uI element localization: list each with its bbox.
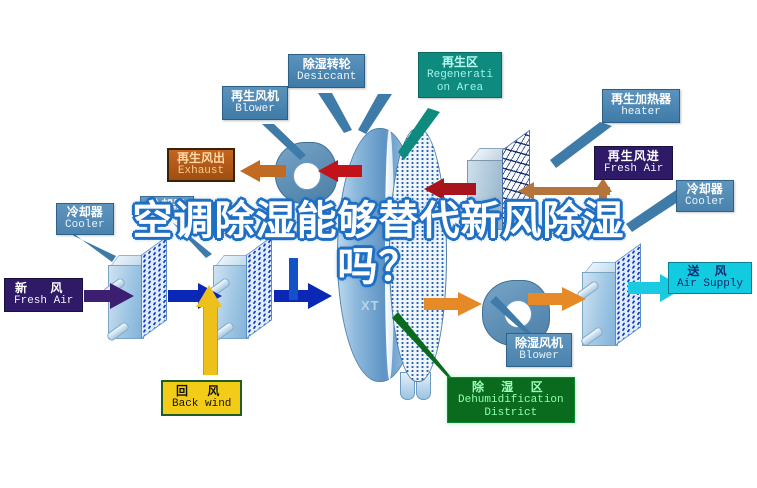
label-cn: 除湿转轮: [297, 58, 356, 71]
label-en: Blower: [231, 103, 279, 115]
label-en: Back wind: [172, 398, 231, 410]
label-cn: 新 风: [14, 282, 73, 295]
label-cn: 送 风: [677, 265, 743, 278]
label-en: Fresh Air: [604, 163, 663, 175]
label-en: Cooler: [685, 196, 725, 208]
label-en-line2: District: [458, 407, 564, 419]
label-en: Regeneration Area: [427, 69, 493, 94]
label-regeneration-fresh-air[interactable]: 再生风进 Fresh Air: [594, 146, 673, 180]
label-en: Exhaust: [177, 165, 225, 177]
label-en: Air Supply: [677, 278, 743, 290]
label-cn: 冷却器: [65, 206, 105, 219]
label-air-supply[interactable]: 送 风 Air Supply: [668, 262, 752, 294]
label-cn: 冷却器: [685, 183, 725, 196]
label-regeneration-area[interactable]: 再生区 Regeneration Area: [418, 52, 502, 98]
label-cooler-right[interactable]: 冷却器 Cooler: [676, 180, 734, 212]
label-cn: 再生区: [427, 56, 493, 69]
label-cn: 除 湿 区: [458, 381, 564, 394]
label-en: heater: [611, 106, 671, 118]
label-cn: 再生风出: [177, 152, 225, 165]
label-en: Desiccant: [297, 71, 356, 83]
leader-lines: [0, 0, 757, 488]
label-dehumidification-blower[interactable]: 除湿风机 Blower: [506, 333, 572, 367]
label-regeneration-blower[interactable]: 再生风机 Blower: [222, 86, 288, 120]
label-back-wind[interactable]: 回 风 Back wind: [161, 380, 242, 416]
label-cooler-left-1[interactable]: 冷却器 Cooler: [56, 203, 114, 235]
dehumidifier-diagram: XT: [0, 0, 757, 488]
label-en: Blower: [515, 350, 563, 362]
label-cn: 除湿风机: [515, 337, 563, 350]
label-regeneration-heater[interactable]: 再生加热器 heater: [602, 89, 680, 123]
label-cooler-left-2[interactable]: 冷却器 Cooler: [140, 196, 194, 215]
label-en: Cooler: [65, 219, 105, 231]
label-cn: 再生风进: [604, 150, 663, 163]
label-dehumidification-district[interactable]: 除 湿 区 Dehumidification District: [447, 377, 575, 423]
label-regeneration-exhaust[interactable]: 再生风出 Exhaust: [167, 148, 235, 182]
label-desiccant-wheel[interactable]: 除湿转轮 Desiccant: [288, 54, 365, 88]
label-fresh-air-in[interactable]: 新 风 Fresh Air: [4, 278, 83, 312]
label-cn: 再生加热器: [611, 93, 671, 106]
label-cn: 冷却器: [149, 199, 185, 212]
label-en-line1: Dehumidification: [458, 394, 564, 406]
label-cn: 再生风机: [231, 90, 279, 103]
label-en: Fresh Air: [14, 295, 73, 307]
label-cn: 回 风: [172, 385, 231, 398]
